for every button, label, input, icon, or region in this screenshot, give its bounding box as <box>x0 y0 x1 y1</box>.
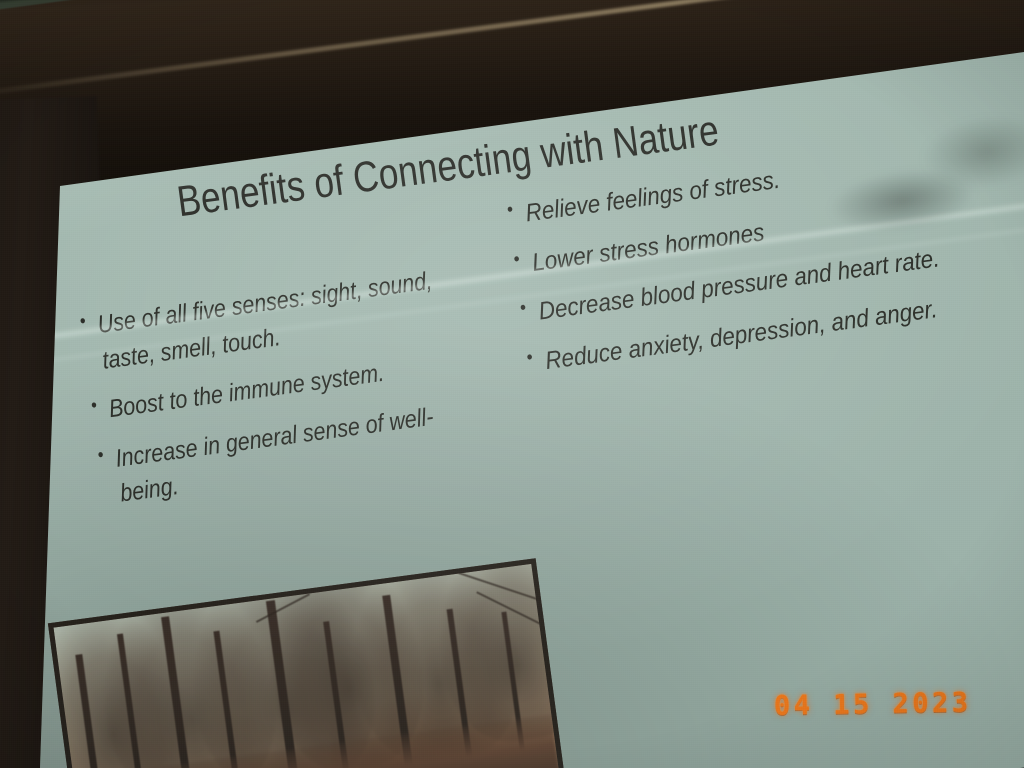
camera-date-stamp: 04 15 2023 <box>774 687 972 721</box>
slide-photo-winter-trees <box>48 558 567 768</box>
slide-bullet-column-left: Use of all five senses: sight, sound, ta… <box>77 254 532 528</box>
photograph-frame: Benefits of Connecting with Nature Use o… <box>0 0 1024 768</box>
